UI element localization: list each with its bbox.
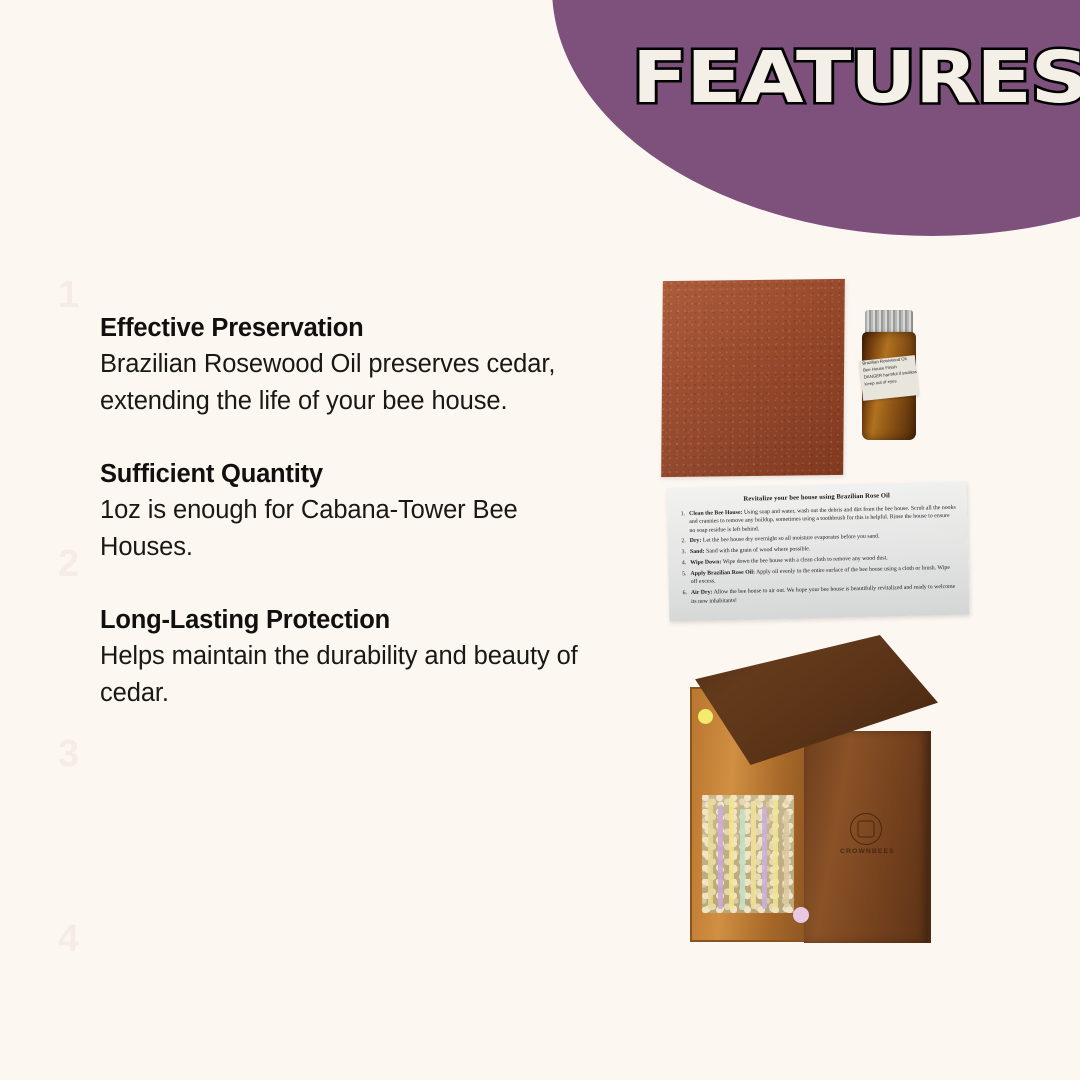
nest-tube — [740, 809, 745, 909]
instruction-step: 1. Clean the Bee House: Using soap and w… — [678, 504, 957, 535]
bee-house-nesting-cells — [702, 795, 794, 913]
feature-block-1: Effective Preservation Brazilian Rosewoo… — [100, 312, 580, 420]
feature-block-3: Long-Lasting Protection Helps maintain t… — [100, 604, 580, 712]
step-body: Sand with the grain of wood where possib… — [705, 547, 811, 555]
bottle-label: Brazilian Rosewood Oil Bee House Finish … — [859, 355, 919, 401]
watermark-number-4: 4 — [58, 918, 79, 961]
step-heading: Air Dry: — [691, 590, 713, 597]
step-body: Let the bee house dry overnight so all m… — [701, 534, 879, 544]
product-gallery: Brazilian Rosewood Oil Bee House Finish … — [620, 260, 1040, 1000]
page-title: FEATURES — [628, 42, 1080, 113]
step-number: 1. — [678, 510, 690, 535]
feature-title: Effective Preservation — [100, 312, 580, 344]
feature-title: Sufficient Quantity — [100, 458, 580, 490]
watermark-number-2: 2 — [58, 543, 79, 586]
nest-tube — [784, 811, 789, 907]
step-heading: Sand: — [690, 549, 705, 555]
nest-tube — [762, 807, 767, 909]
bee-house-image: CROWNBEES — [662, 635, 962, 975]
nest-tube — [751, 801, 756, 909]
step-number: 4. — [679, 559, 690, 568]
sandpaper-sheet-image — [661, 279, 845, 477]
step-text: Clean the Bee House: Using soap and wate… — [689, 504, 957, 535]
feature-description: Brazilian Rosewood Oil preserves cedar, … — [100, 346, 580, 420]
step-heading: Dry: — [690, 538, 702, 544]
watermark-number-3: 3 — [58, 733, 79, 776]
step-number: 6. — [680, 589, 691, 606]
step-number: 5. — [679, 570, 690, 587]
features-list: Effective Preservation Brazilian Rosewoo… — [100, 312, 580, 712]
nest-tube — [718, 805, 723, 909]
instruction-card-title: Revitalize your bee house using Brazilia… — [678, 491, 956, 505]
nest-tube — [708, 799, 713, 909]
bottle-cap — [865, 310, 913, 334]
watermark-number-1: 1 — [58, 274, 79, 317]
nest-tube — [773, 799, 778, 909]
step-heading: Wipe Down: — [690, 560, 721, 567]
step-body: Wipe down the bee house with a clean clo… — [721, 556, 887, 566]
step-body: Allow the bee house to air out. We hope … — [691, 584, 955, 605]
feature-block-2: Sufficient Quantity 1oz is enough for Ca… — [100, 458, 580, 566]
instruction-step: 6. Air Dry: Allow the bee house to air o… — [680, 583, 958, 606]
crownbees-logo: CROWNBEES — [840, 813, 892, 855]
step-number: 3. — [679, 548, 690, 557]
bee-emblem-icon — [850, 813, 882, 845]
nest-tube — [729, 797, 734, 909]
step-number: 2. — [679, 538, 690, 547]
feature-title: Long-Lasting Protection — [100, 604, 580, 636]
step-heading: Apply Brazilian Rose Oil: — [690, 570, 755, 578]
decorative-dot — [698, 709, 713, 724]
decorative-dot — [793, 907, 809, 923]
feature-description: Helps maintain the durability and beauty… — [100, 638, 580, 712]
step-heading: Clean the Bee House: — [689, 510, 743, 517]
feature-description: 1oz is enough for Cabana-Tower Bee House… — [100, 492, 580, 566]
instruction-card-image: Revitalize your bee house using Brazilia… — [666, 481, 969, 621]
oil-bottle-image: Brazilian Rosewood Oil Bee House Finish … — [862, 310, 916, 440]
brand-name: CROWNBEES — [840, 848, 892, 855]
step-text: Air Dry: Allow the bee house to air out.… — [691, 583, 958, 606]
